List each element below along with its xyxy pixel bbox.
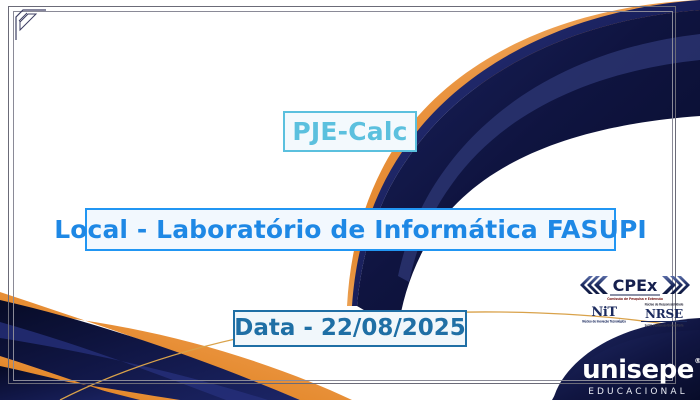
bottom-left-navy-highlight [0, 322, 268, 400]
nrse-logo: Núcleo de Responsabilidade NRSE Social e… [634, 304, 694, 327]
corner-ornament-icon [14, 8, 48, 42]
presentation-slide: PJE-Calc Local - Laboratório de Informát… [0, 0, 700, 400]
registered-trademark-icon: ® [694, 358, 700, 365]
nrse-wordmark: NRSE [634, 308, 694, 320]
cpex-subtitle: Comissão de Pesquisa e Extensão [580, 296, 690, 301]
unisepe-logo: unisepe ® EDUCACIONAL [576, 357, 700, 397]
institution-logo-cluster: CPEx Comissão de Pesquisa e Extensão NiT… [576, 272, 696, 334]
location-textbox: Local - Laboratório de Informática FASUP… [85, 208, 616, 251]
date-text: Data - 22/08/2025 [234, 317, 466, 340]
svg-text:CPEx: CPEx [613, 276, 658, 295]
title-textbox: PJE-Calc [283, 111, 417, 152]
top-right-navy-sliver [352, 0, 700, 306]
bottom-left-gold-band-2 [0, 356, 180, 400]
nit-wordmark: NiT [578, 306, 630, 319]
title-text: PJE-Calc [292, 119, 407, 144]
unisepe-wordmark: unisepe [582, 355, 694, 385]
nrse-toptext: Núcleo de Responsabilidade [634, 303, 694, 307]
location-text: Local - Laboratório de Informática FASUP… [54, 217, 647, 242]
cpex-chevron-cluster-icon: CPEx [576, 272, 694, 298]
top-right-gold-band [347, 0, 700, 306]
nit-logo: NiT Núcleo de Inovação Tecnológica [578, 306, 630, 323]
date-textbox: Data - 22/08/2025 [233, 310, 467, 347]
nrse-divider [641, 321, 687, 322]
nit-subtitle: Núcleo de Inovação Tecnológica [578, 320, 630, 324]
cpex-logo: CPEx Comissão de Pesquisa e Extensão [576, 272, 694, 298]
nrse-subtitle: Social e Extensão Universitária [634, 324, 694, 328]
unisepe-tagline: EDUCACIONAL [576, 387, 700, 397]
bottom-left-navy-band-2 [0, 366, 140, 400]
unisepe-wordmark-wrap: unisepe ® [582, 357, 694, 383]
